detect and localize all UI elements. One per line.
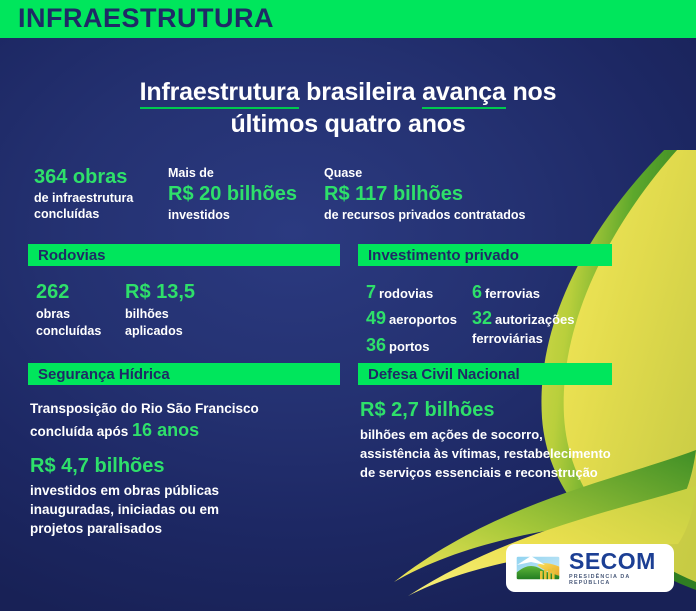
item-label: rodovias (379, 286, 433, 301)
section-header-defesa-civil: Defesa Civil Nacional (358, 363, 612, 385)
section-title: Segurança Hídrica (28, 366, 170, 383)
list-item: 49aeroportos (366, 307, 476, 330)
section-title: Defesa Civil Nacional (358, 366, 520, 383)
defesa-description: bilhões em ações de socorro, assistência… (360, 426, 630, 483)
item-label-continued: ferroviárias (472, 331, 617, 347)
top-stat-value: R$ 20 bilhões (168, 183, 338, 206)
top-stats-row: 364 obras de infraestrutura concluídas M… (28, 166, 658, 228)
item-label: autorizações (495, 312, 574, 327)
seguranca-value: R$ 4,7 bilhões (30, 455, 340, 477)
secom-subtitle: PRESIDÊNCIA DA REPÚBLICA (569, 575, 665, 586)
section-header-investimento-privado: Investimento privado (358, 244, 612, 266)
infographic-poster: INFRAESTRUTURA Infraestrutura brasileira… (0, 0, 696, 611)
top-stat-label: investidos (168, 207, 338, 223)
headline-word-infraestrutura: Infraestrutura (140, 78, 300, 109)
headline-word-avanca: avança (422, 78, 506, 109)
secom-name: SECOM (569, 550, 665, 573)
section-title: Investimento privado (358, 247, 519, 264)
section-header-rodovias: Rodovias (28, 244, 340, 266)
headline-word-nos: nos (512, 78, 556, 106)
stat-label: bilhões aplicados (125, 306, 195, 340)
banner-title: INFRAESTRUTURA (18, 3, 274, 34)
secom-emblem-icon (515, 553, 561, 583)
transposicao-prefix: concluída após (30, 424, 128, 439)
stat-value: 262 (36, 281, 101, 303)
item-count: 49 (366, 308, 386, 328)
item-label: aeroportos (389, 312, 457, 327)
section-header-seguranca-hidrica: Segurança Hídrica (28, 363, 340, 385)
list-item: 6ferrovias (472, 281, 617, 304)
stat-value: R$ 13,5 (125, 281, 195, 303)
item-label: portos (389, 339, 429, 354)
defesa-civil-body: R$ 2,7 bilhões bilhões em ações de socor… (360, 399, 630, 483)
rodovias-stat-valor: R$ 13,5 bilhões aplicados (125, 281, 195, 340)
top-stat-prefix: Quase (324, 166, 654, 182)
headline-line-2: últimos quatro anos (230, 110, 465, 138)
top-stat-value: 364 obras (34, 166, 174, 189)
headline-word-brasileira: brasileira (306, 78, 415, 106)
transposicao-line-2: concluída após 16 anos (30, 418, 340, 444)
list-item: 32autorizações ferroviárias (472, 307, 617, 346)
secom-wordmark: SECOM PRESIDÊNCIA DA REPÚBLICA (569, 550, 665, 586)
transposicao-line-1: Transposição do Rio São Francisco (30, 399, 340, 418)
rodovias-stat-obras: 262 obras concluídas (36, 281, 101, 340)
item-count: 6 (472, 282, 482, 302)
top-stat-prefix: Mais de (168, 166, 338, 182)
top-stat-recursos-privados: Quase R$ 117 bilhões de recursos privado… (324, 166, 654, 223)
item-count: 36 (366, 335, 386, 355)
top-stat-obras: 364 obras de infraestrutura concluídas (34, 166, 174, 223)
page-title: Infraestrutura brasileira avança nos últ… (0, 76, 696, 140)
top-stat-investidos: Mais de R$ 20 bilhões investidos (168, 166, 338, 223)
secom-logo: SECOM PRESIDÊNCIA DA REPÚBLICA (506, 544, 674, 592)
stat-label: obras concluídas (36, 306, 101, 340)
section-title: Rodovias (28, 247, 106, 264)
transposicao-highlight: 16 anos (132, 420, 199, 440)
seguranca-hidrica-body: Transposição do Rio São Francisco conclu… (30, 399, 340, 538)
list-item: 36portos (366, 334, 476, 357)
top-stat-label: de infraestrutura concluídas (34, 190, 174, 223)
list-item: 7rodovias (366, 281, 476, 304)
header-banner: INFRAESTRUTURA (0, 0, 696, 38)
investimento-column-left: 7rodovias 49aeroportos 36portos (366, 281, 476, 360)
defesa-value: R$ 2,7 bilhões (360, 399, 630, 421)
seguranca-description: investidos em obras públicas inauguradas… (30, 481, 340, 538)
item-count: 32 (472, 308, 492, 328)
item-label: ferrovias (485, 286, 540, 301)
item-count: 7 (366, 282, 376, 302)
investimento-column-right: 6ferrovias 32autorizações ferroviárias (472, 281, 617, 350)
top-stat-value: R$ 117 bilhões (324, 183, 654, 206)
top-stat-label: de recursos privados contratados (324, 207, 654, 223)
